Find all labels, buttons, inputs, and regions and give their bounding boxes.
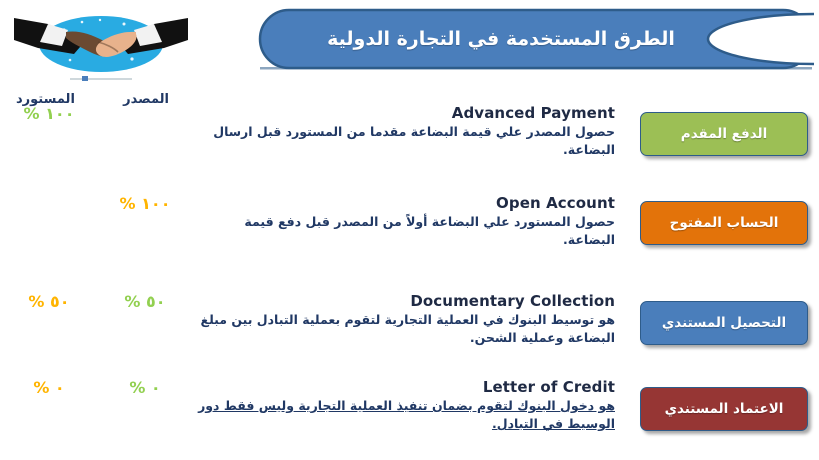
row-description: Advanced Payment حصول المصدر علي قيمة ال… <box>195 104 615 159</box>
title-banner <box>258 8 814 70</box>
row-description: Letter of Credit هو دخول البنوك لتقوم بض… <box>195 378 615 433</box>
table-row: ١٠٠ % Open Account حصول المستورد علي الب… <box>0 194 819 272</box>
exporter-percentage: ٥٠ % <box>104 292 186 311</box>
importer-percentage: ٥٠ % <box>8 292 90 311</box>
exporter-percentage: ١٠٠ % <box>104 194 186 213</box>
table-row: ١٠٠ % Advanced Payment حصول المصدر علي ق… <box>0 104 819 182</box>
method-name-en: Documentary Collection <box>195 292 615 310</box>
method-description-ar: هو توسيط البنوك في العملية التجارية لتقو… <box>195 311 615 347</box>
method-name-en: Letter of Credit <box>195 378 615 396</box>
table-row: ٠ % ٠ % Letter of Credit هو دخول البنوك … <box>0 378 819 456</box>
exporter-percentage: ٠ % <box>104 378 186 397</box>
handshake-logo <box>12 4 190 88</box>
table-row: ٥٠ % ٥٠ % Documentary Collection هو توسي… <box>0 292 819 370</box>
importer-percentage: ٠ % <box>8 378 90 397</box>
method-description-ar: حصول المستورد علي البضاعة أولاً من المصد… <box>195 213 615 249</box>
importer-percentage: ١٠٠ % <box>8 104 90 123</box>
method-name-en: Open Account <box>195 194 615 212</box>
method-label-chip[interactable]: الدفع المقدم <box>640 112 808 156</box>
row-description: Documentary Collection هو توسيط البنوك ف… <box>195 292 615 347</box>
method-name-en: Advanced Payment <box>195 104 615 122</box>
row-description: Open Account حصول المستورد علي البضاعة أ… <box>195 194 615 249</box>
method-description-ar: حصول المصدر علي قيمة البضاعة مقدما من ال… <box>195 123 615 159</box>
method-label-chip[interactable]: الحساب المفتوح <box>640 201 808 245</box>
method-description-ar: هو دخول البنوك لتقوم بضمان تنفيذ العملية… <box>195 397 615 433</box>
method-label-chip[interactable]: الاعتماد المستندي <box>640 387 808 431</box>
method-label-chip[interactable]: التحصيل المستندي <box>640 301 808 345</box>
